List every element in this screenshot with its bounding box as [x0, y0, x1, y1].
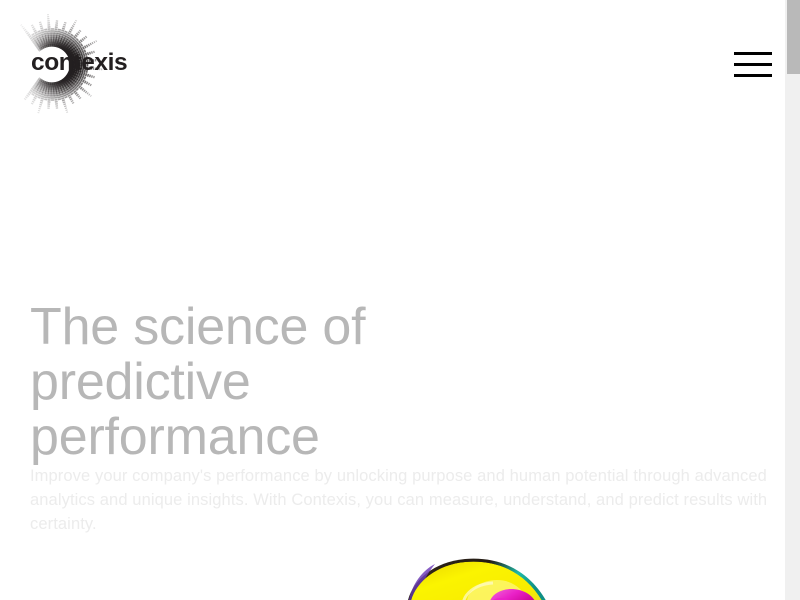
page-root: contexis The science of predictive perfo… — [0, 0, 800, 600]
blob-magenta — [489, 589, 537, 600]
blob-rim — [407, 559, 549, 600]
hero-subcopy: Improve your company's performance by un… — [30, 464, 770, 536]
blob-yellow — [410, 562, 545, 600]
hero-section: The science of predictive performance Im… — [30, 300, 770, 465]
hamburger-bar-middle — [734, 63, 772, 66]
hamburger-menu-button[interactable] — [734, 47, 772, 83]
blob-svg — [405, 556, 555, 600]
iridescent-blob-graphic — [405, 556, 555, 600]
blob-body — [410, 562, 545, 600]
blob-violet-edge — [408, 564, 435, 600]
hero-headline: The science of predictive performance — [30, 300, 450, 465]
blob-swirl — [463, 583, 493, 600]
blob-highlight — [467, 580, 531, 600]
site-header: contexis — [0, 0, 785, 130]
page-viewport: contexis The science of predictive perfo… — [0, 0, 785, 600]
scrollbar-thumb[interactable] — [787, 0, 800, 74]
vertical-scrollbar[interactable] — [785, 0, 800, 600]
hamburger-bar-bottom — [734, 74, 772, 77]
hamburger-bar-top — [734, 52, 772, 55]
logo-wordmark: contexis — [31, 51, 127, 76]
